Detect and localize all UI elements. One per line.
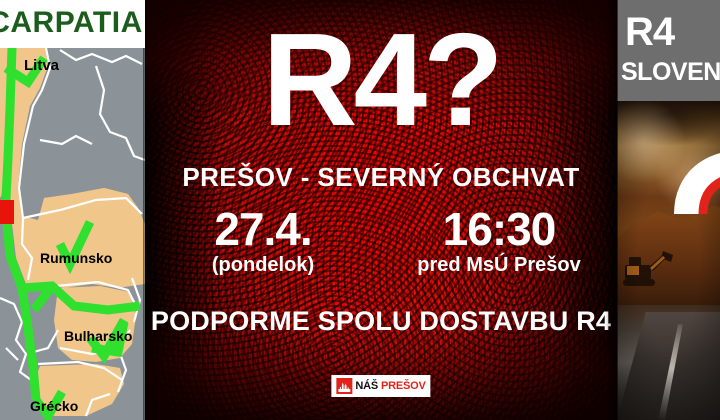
event-date: 27.4. — [145, 206, 381, 252]
right-edge-shadow — [605, 0, 618, 420]
headline-r4: R4? — [145, 14, 617, 146]
logo-word-presov: PREŠOV — [381, 381, 426, 392]
question-mark-icon — [669, 152, 720, 342]
main-poster-panel: R4? PREŠOV - SEVERNÝ OBCHVAT 27.4. (pond… — [145, 0, 617, 420]
event-time-block: 16:30 pred MsÚ Prešov — [381, 206, 617, 278]
map-label-rumunsko: Rumunsko — [40, 250, 112, 266]
logo-word-nas: NÁŠ — [355, 381, 378, 392]
event-details-row: 27.4. (pondelok) 16:30 pred MsÚ Prešov — [145, 206, 617, 278]
map-title: CARPATIA — [0, 6, 145, 40]
map-label-bulharsko: Bulharsko — [64, 328, 132, 344]
event-time: 16:30 — [381, 206, 617, 252]
map-graphic: Litva Rumunsko Bulharsko Grécko — [0, 48, 145, 420]
via-carpatia-map-panel: Litva Rumunsko Bulharsko Grécko CARPATIA — [0, 0, 145, 420]
r4-slovensko-photo-panel: R4 SLOVEN — [617, 0, 720, 420]
campaign-poster: Litva Rumunsko Bulharsko Grécko CARPATIA… — [0, 0, 720, 420]
subheadline: PREŠOV - SEVERNÝ OBCHVAT — [145, 162, 617, 193]
event-location: pred MsÚ Prešov — [381, 253, 617, 278]
nas-presov-logo[interactable]: NÁŠ PREŠOV — [331, 375, 430, 397]
map-title-band: CARPATIA — [0, 0, 145, 48]
city-skyline-icon — [336, 378, 352, 394]
right-header-band: R4 SLOVEN — [617, 0, 720, 101]
route-missing-link — [0, 200, 14, 224]
event-date-block: 27.4. (pondelok) — [145, 206, 381, 278]
right-subheading-slovensko: SLOVEN — [617, 60, 720, 85]
map-label-litva: Litva — [24, 57, 60, 74]
call-to-action-text: PODPORME SPOLU DOSTAVBU R4 — [145, 306, 617, 337]
right-heading-r4: R4 — [617, 12, 720, 52]
map-label-grecko: Grécko — [30, 398, 78, 414]
left-edge-shadow — [143, 0, 147, 420]
event-weekday: (pondelok) — [145, 253, 381, 278]
map-svg: Litva Rumunsko Bulharsko Grécko — [0, 48, 145, 420]
